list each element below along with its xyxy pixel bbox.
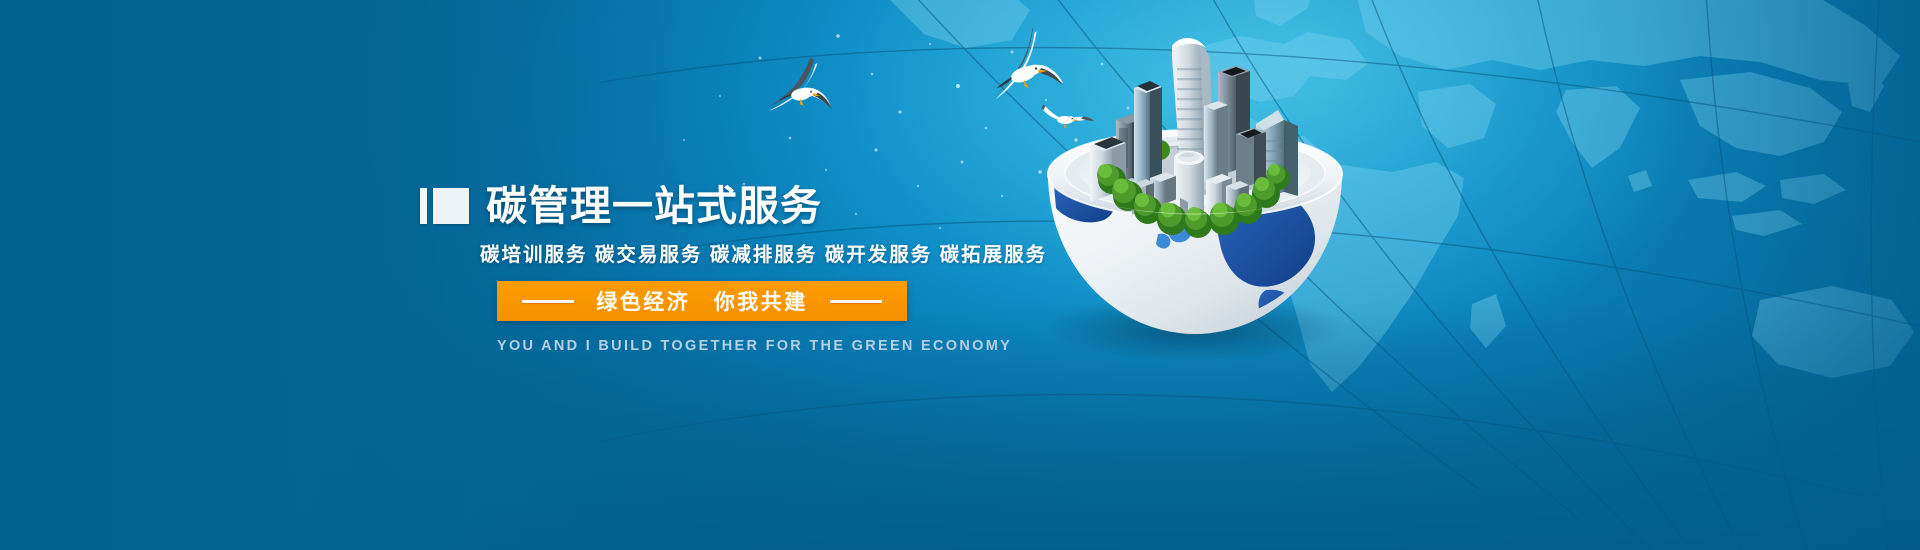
bar-square-mark-icon	[420, 188, 469, 224]
banner-english-tagline: YOU AND I BUILD TOGETHER FOR THE GREEN E…	[497, 338, 1120, 354]
title-row: 碳管理一站式服务	[420, 183, 1120, 229]
banner-service-list: 碳培训服务 碳交易服务 碳减排服务 碳开发服务 碳拓展服务	[480, 238, 1120, 267]
slogan-banner: 绿色经济 你我共建	[497, 281, 907, 321]
seagull-left-icon	[753, 47, 844, 130]
mark-square-icon	[433, 188, 469, 224]
banner-text-block: 碳管理一站式服务 碳培训服务 碳交易服务 碳减排服务 碳开发服务 碳拓展服务 绿…	[420, 183, 1120, 354]
banner-main-title: 碳管理一站式服务	[486, 183, 822, 229]
promo-banner: 碳管理一站式服务 碳培训服务 碳交易服务 碳减排服务 碳开发服务 碳拓展服务 绿…	[0, 0, 1920, 550]
slogan-rule-left	[522, 300, 574, 303]
mark-bar-icon	[420, 188, 427, 224]
slogan-text: 绿色经济 你我共建	[596, 286, 808, 316]
slogan-rule-right	[830, 300, 882, 303]
